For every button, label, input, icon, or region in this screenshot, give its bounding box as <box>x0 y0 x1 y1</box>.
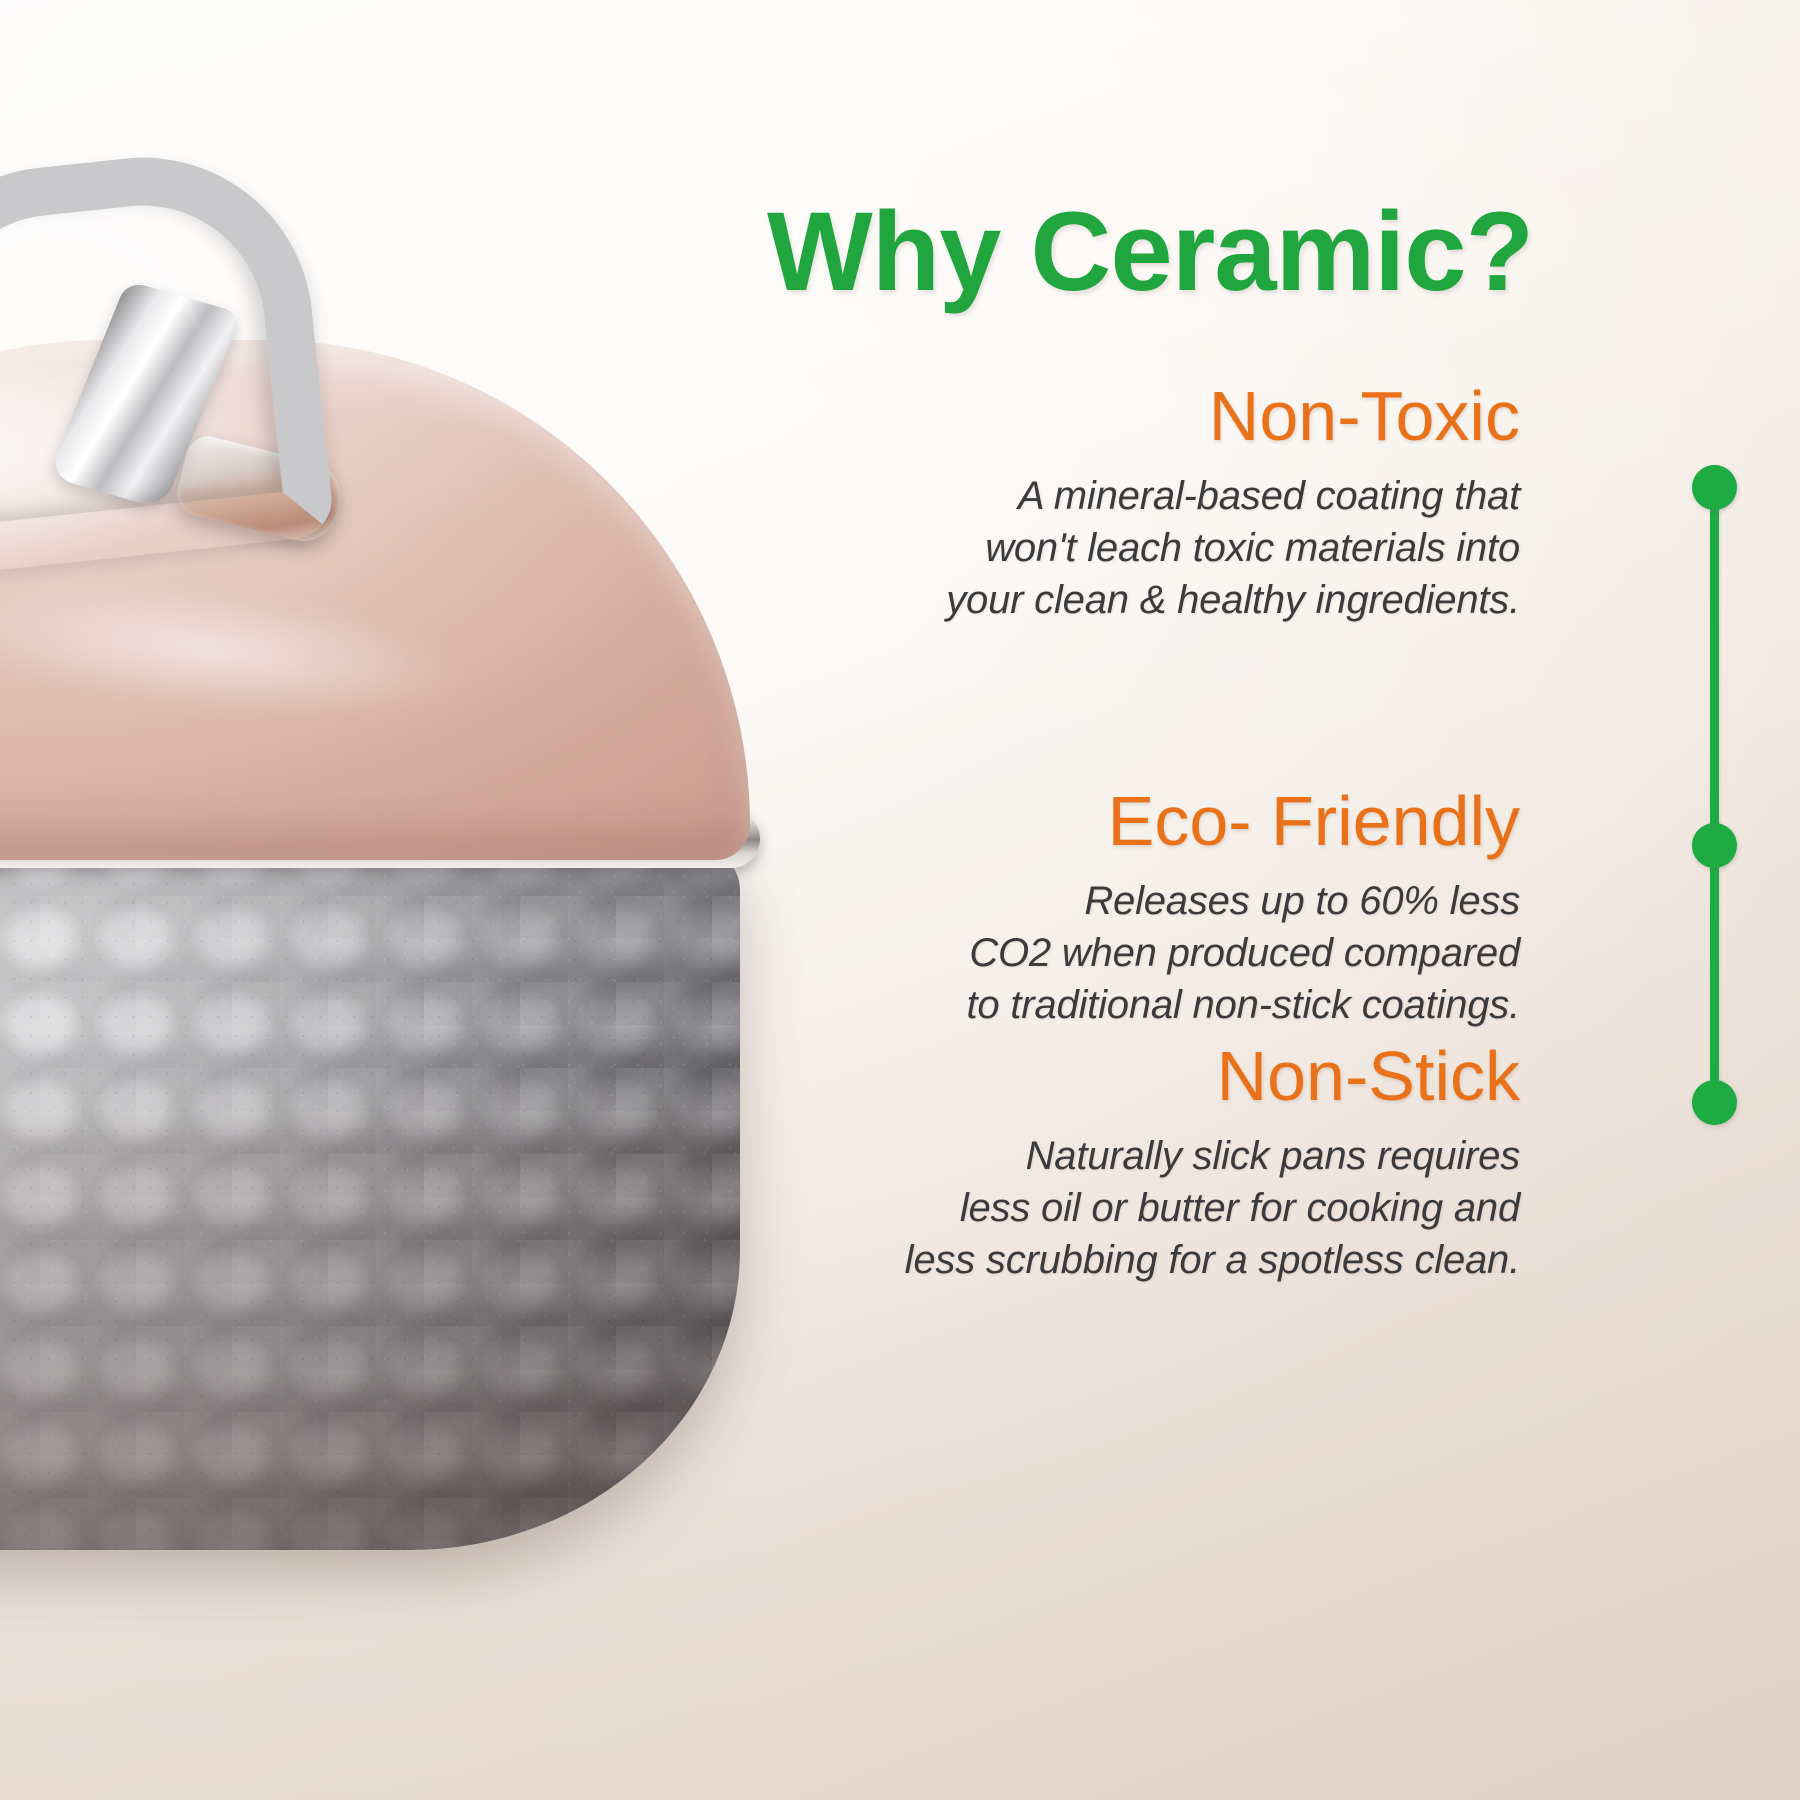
timeline-segment-2 <box>1710 845 1719 1103</box>
content-column: Why Ceramic? Non-Toxic A mineral-based c… <box>700 0 1800 1800</box>
timeline-segment-1 <box>1710 487 1719 857</box>
timeline-dot-eco-friendly <box>1692 823 1737 868</box>
feature-timeline <box>700 0 1800 1800</box>
infographic-canvas: Why Ceramic? Non-Toxic A mineral-based c… <box>0 0 1800 1800</box>
lid-highlight-secondary <box>0 563 475 737</box>
timeline-dot-non-stick <box>1692 1080 1737 1125</box>
silicone-handle <box>0 141 336 579</box>
pot-shading <box>0 850 740 1550</box>
ceramic-pot-body <box>0 850 740 1550</box>
timeline-dot-non-toxic <box>1692 465 1737 510</box>
